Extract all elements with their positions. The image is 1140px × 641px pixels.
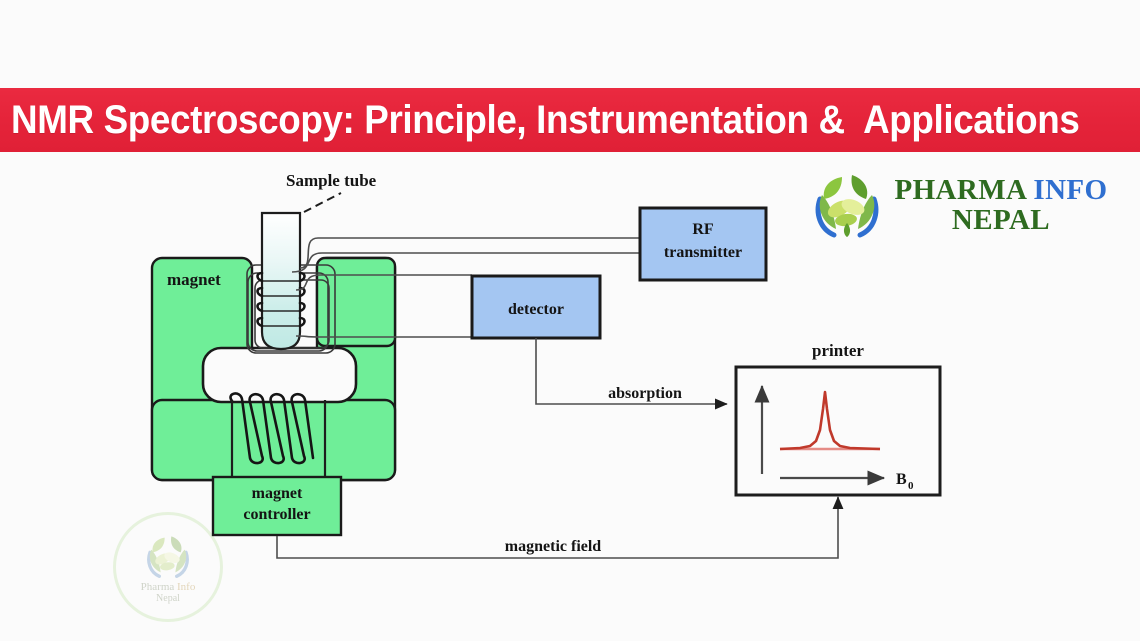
wire-detector-to-printer: absorption: [536, 338, 727, 404]
sample-tube: [262, 213, 300, 349]
sample-tube-label: Sample tube: [286, 171, 377, 190]
printer-label: printer: [812, 341, 864, 360]
rf-transmitter-label-line1: RF: [692, 221, 714, 238]
wire-magnetic-field: magnetic field: [277, 497, 838, 558]
b0-axis-label: B: [896, 471, 907, 488]
nmr-spectrometer-diagram: magnet magnet controller: [0, 0, 1140, 641]
detector-box: detector: [472, 276, 600, 338]
detector-label: detector: [508, 301, 564, 318]
magnet-label: magnet: [167, 270, 221, 289]
sample-tube-leader-line: [304, 193, 341, 212]
printer-box: printer B 0: [736, 341, 940, 495]
magnet-controller-label-line1: magnet: [252, 485, 303, 502]
sample-tube-annotation: Sample tube: [286, 171, 377, 212]
magnet-controller-box: magnet controller: [213, 477, 341, 535]
magnet-controller-label-line2: controller: [243, 506, 310, 523]
magnetic-field-label: magnetic field: [505, 538, 602, 555]
rf-transmitter-box: RF transmitter: [640, 208, 766, 280]
absorption-label: absorption: [608, 385, 682, 402]
b0-axis-subscript: 0: [908, 480, 914, 492]
rf-transmitter-label-line2: transmitter: [664, 244, 742, 261]
screenshot-root: NMR Spectroscopy: Principle, Instrumenta…: [0, 0, 1140, 641]
